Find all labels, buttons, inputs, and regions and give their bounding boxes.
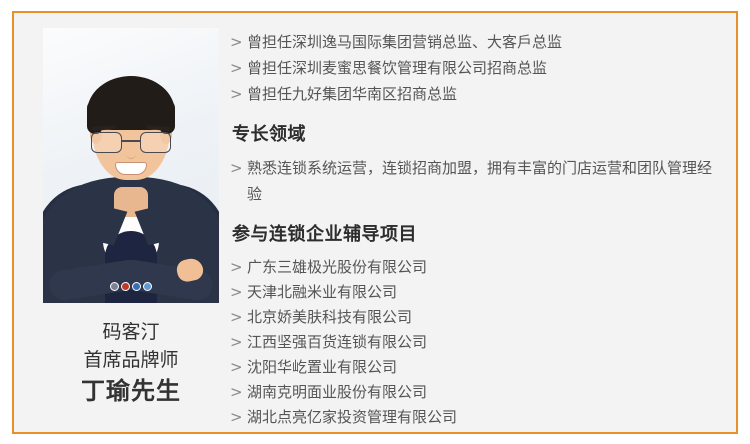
- expertise-list: > 熟悉连锁系统运营，连锁招商加盟，拥有丰富的门店运营和团队管理经验: [230, 155, 718, 207]
- list-item: > 湖南克明面业股份有限公司: [230, 380, 718, 405]
- list-item-text: 曾担任深圳逸马国际集团营销总监、大客戶总监: [247, 33, 562, 51]
- list-item-text: 曾担任深圳麦蜜思餐饮管理有限公司招商总监: [247, 59, 547, 77]
- bullet-marker: >: [230, 305, 243, 330]
- list-item: > 湖北点亮亿家投资管理有限公司: [230, 405, 718, 430]
- list-item: > 曾担任深圳麦蜜思餐饮管理有限公司招商总监: [230, 55, 718, 81]
- glasses-lens-left: [91, 132, 122, 153]
- list-item: > 曾担任九好集团华南区招商总监: [230, 81, 718, 107]
- name-block: 码客汀 首席品牌师 丁瑜先生: [43, 319, 219, 409]
- bullet-marker: >: [230, 355, 243, 380]
- list-item-text: 沈阳华屹置业有限公司: [247, 358, 397, 376]
- list-item-text: 北京娇美肤科技有限公司: [247, 308, 412, 326]
- list-item-text: 江西坚强百货连锁有限公司: [247, 333, 427, 351]
- list-item: > 熟悉连锁系统运营，连锁招商加盟，拥有丰富的门店运营和团队管理经验: [230, 155, 718, 207]
- glasses-lens-right: [140, 132, 171, 153]
- projects-list: > 广东三雄极光股份有限公司 > 天津北融米业有限公司 > 北京娇美肤科技有限公…: [230, 255, 718, 430]
- bullet-marker: >: [230, 380, 243, 405]
- bullet-marker: >: [230, 255, 243, 280]
- smile: [115, 162, 147, 175]
- bullet-marker: >: [230, 155, 243, 181]
- list-item-text: 曾担任九好集团华南区招商总监: [247, 85, 457, 103]
- section-heading-projects: 参与连锁企业辅导项目: [232, 220, 718, 246]
- list-item-text: 熟悉连锁系统运营，连锁招商加盟，拥有丰富的门店运营和团队管理经验: [247, 159, 712, 203]
- person-name: 丁瑜先生: [43, 374, 219, 409]
- profile-card: 码客汀 首席品牌师 丁瑜先生 > 曾担任深圳逸马国际集团营销总监、大客戶总监 >…: [12, 11, 738, 434]
- company-name: 码客汀: [43, 319, 219, 347]
- list-item-text: 天津北融米业有限公司: [247, 283, 397, 301]
- list-item-text: 湖北点亮亿家投资管理有限公司: [247, 408, 457, 426]
- glasses-bridge: [122, 140, 140, 142]
- list-item: > 曾担任深圳逸马国际集团营销总监、大客戶总监: [230, 29, 718, 55]
- content-column: > 曾担任深圳逸马国际集团营销总监、大客戶总监 > 曾担任深圳麦蜜思餐饮管理有限…: [230, 29, 718, 430]
- list-item: > 北京娇美肤科技有限公司: [230, 305, 718, 330]
- section-heading-expertise: 专长领域: [232, 120, 718, 146]
- bullet-marker: >: [230, 81, 243, 107]
- list-item: > 沈阳华屹置业有限公司: [230, 355, 718, 380]
- profile-column: 码客汀 首席品牌师 丁瑜先生: [43, 28, 219, 409]
- bullet-marker: >: [230, 55, 243, 81]
- list-item: > 江西坚强百货连锁有限公司: [230, 330, 718, 355]
- list-item: > 广东三雄极光股份有限公司: [230, 255, 718, 280]
- experience-list: > 曾担任深圳逸马国际集团营销总监、大客戶总监 > 曾担任深圳麦蜜思餐饮管理有限…: [230, 29, 718, 107]
- bullet-marker: >: [230, 330, 243, 355]
- list-item: > 天津北融米业有限公司: [230, 280, 718, 305]
- job-title: 首席品牌师: [43, 347, 219, 375]
- list-item-text: 湖南克明面业股份有限公司: [247, 383, 427, 401]
- bullet-marker: >: [230, 405, 243, 430]
- bullet-marker: >: [230, 280, 243, 305]
- bullet-marker: >: [230, 29, 243, 55]
- list-item-text: 广东三雄极光股份有限公司: [247, 258, 427, 276]
- lapel-pin-icon: [110, 282, 152, 291]
- portrait-photo: [43, 28, 219, 303]
